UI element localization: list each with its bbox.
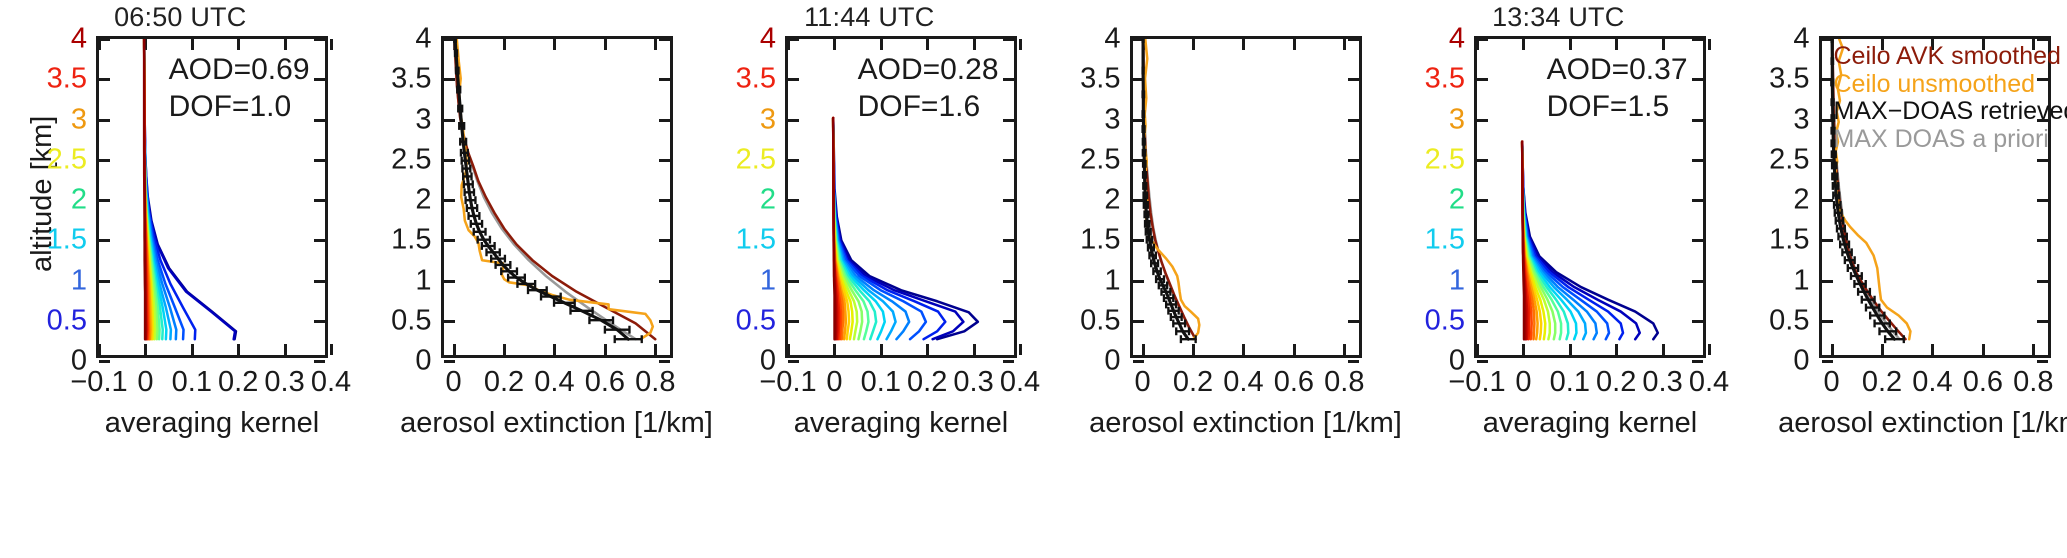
panel-title: 11:44 UTC bbox=[697, 2, 1042, 32]
x-tick-label: 0.4 bbox=[534, 367, 574, 397]
y-tick-label: 0.5 bbox=[1769, 306, 1809, 335]
plot-area: 00.511.522.533.5400.20.40.60.8aerosol ex… bbox=[1130, 36, 1362, 358]
x-axis-title: averaging kernel bbox=[105, 407, 319, 439]
y-tick-label: 1.5 bbox=[1080, 226, 1120, 255]
x-tick-label: 0 bbox=[1824, 367, 1840, 397]
x-tick-label: 0.8 bbox=[1324, 367, 1364, 397]
x-tick-label: 0 bbox=[1515, 367, 1531, 397]
legend: Ceilo AVK smoothedCeilo unsmoothedMAX−DO… bbox=[1834, 43, 2067, 153]
x-tick bbox=[1708, 39, 1711, 50]
x-tick-label: −0.1 bbox=[1448, 367, 1505, 397]
y-tick-label: 3.5 bbox=[1769, 65, 1809, 94]
y-tick bbox=[1477, 360, 1488, 363]
y-tick-label: 4 bbox=[71, 25, 87, 54]
x-tick-label: 0.2 bbox=[1862, 367, 1902, 397]
y-tick bbox=[2037, 360, 2048, 363]
plot-area: 00.511.522.533.5400.20.40.60.8aerosol ex… bbox=[441, 36, 673, 358]
y-tick-label: 1 bbox=[760, 266, 776, 295]
panel-ext-1334: 00.511.522.533.5400.20.40.60.8aerosol ex… bbox=[1731, 0, 2067, 558]
y-tick-label: 1 bbox=[1793, 266, 1809, 295]
y-tick-label: 4 bbox=[415, 25, 431, 54]
y-tick-label: 4 bbox=[1104, 25, 1120, 54]
y-tick-label: 3.5 bbox=[1080, 65, 1120, 94]
y-tick-label: 1 bbox=[71, 266, 87, 295]
x-tick-label: 0.8 bbox=[2013, 367, 2053, 397]
x-tick-label: 0.6 bbox=[585, 367, 625, 397]
x-tick-label: 0.2 bbox=[218, 367, 258, 397]
multi-panel-profile-figure: altitude [km] 06:50 UTC00.511.522.533.54… bbox=[0, 0, 2067, 558]
curve-canvas bbox=[1133, 39, 1359, 355]
x-tick-label: 0.2 bbox=[1596, 367, 1636, 397]
plot-area: 00.511.522.533.5400.20.40.60.8aerosol ex… bbox=[1819, 36, 2051, 358]
y-tick bbox=[659, 360, 670, 363]
y-tick-label: 3.5 bbox=[736, 65, 776, 94]
y-tick-label: 3.5 bbox=[1425, 65, 1465, 94]
x-tick-label: −0.1 bbox=[759, 367, 816, 397]
y-tick-label: 1.5 bbox=[736, 226, 776, 255]
y-tick-label: 0 bbox=[1793, 347, 1809, 376]
x-tick-label: 0 bbox=[137, 367, 153, 397]
curve-canvas bbox=[1477, 39, 1703, 355]
panel-title: 06:50 UTC bbox=[8, 2, 353, 32]
curve-canvas bbox=[444, 39, 670, 355]
y-tick-label: 3 bbox=[1449, 105, 1465, 134]
panel-ext-0650: 00.511.522.533.5400.20.40.60.8aerosol ex… bbox=[353, 0, 698, 558]
y-tick-label: 2 bbox=[1449, 186, 1465, 215]
y-tick bbox=[1003, 360, 1014, 363]
y-tick-label: 2 bbox=[71, 186, 87, 215]
x-axis-title: averaging kernel bbox=[1483, 407, 1697, 439]
y-tick-label: 4 bbox=[1449, 25, 1465, 54]
y-tick-label: 3 bbox=[1104, 105, 1120, 134]
y-tick-label: 2.5 bbox=[47, 145, 87, 174]
panel-ak-0650: 06:50 UTC00.511.522.533.54−0.100.10.20.3… bbox=[8, 0, 353, 558]
y-tick bbox=[1822, 360, 1833, 363]
y-tick-label: 2.5 bbox=[1769, 145, 1809, 174]
y-tick-label: 2 bbox=[415, 186, 431, 215]
panel-ak-1144: 11:44 UTC00.511.522.533.54−0.100.10.20.3… bbox=[697, 0, 1042, 558]
x-tick-label: 0 bbox=[446, 367, 462, 397]
plot-area: 00.511.522.533.54−0.100.10.20.30.4averag… bbox=[785, 36, 1017, 358]
y-tick-label: 1.5 bbox=[1425, 226, 1465, 255]
y-tick-label: 1.5 bbox=[391, 226, 431, 255]
y-tick-label: 1 bbox=[1104, 266, 1120, 295]
y-tick bbox=[1348, 360, 1359, 363]
x-tick-label: 0.2 bbox=[907, 367, 947, 397]
x-tick bbox=[330, 344, 333, 355]
x-tick-label: 0.8 bbox=[635, 367, 675, 397]
y-tick-label: 2.5 bbox=[1080, 145, 1120, 174]
curve-canvas bbox=[99, 39, 325, 355]
y-tick-label: 2.5 bbox=[1425, 145, 1465, 174]
x-tick-label: 0.1 bbox=[861, 367, 901, 397]
y-tick-label: 1.5 bbox=[47, 226, 87, 255]
y-tick-label: 4 bbox=[1793, 25, 1809, 54]
y-tick-label: 3 bbox=[71, 105, 87, 134]
y-tick-label: 3 bbox=[1793, 105, 1809, 134]
y-tick-label: 1 bbox=[1449, 266, 1465, 295]
y-tick-label: 2.5 bbox=[391, 145, 431, 174]
y-tick-label: 0.5 bbox=[1425, 306, 1465, 335]
y-tick-label: 0.5 bbox=[736, 306, 776, 335]
y-tick-label: 0 bbox=[415, 347, 431, 376]
x-tick-label: 0.4 bbox=[311, 367, 351, 397]
x-tick bbox=[1019, 39, 1022, 50]
series-line bbox=[456, 39, 652, 339]
x-tick bbox=[330, 39, 333, 50]
x-axis-title: aerosol extinction [1/km] bbox=[400, 407, 713, 439]
y-tick-label: 0.5 bbox=[391, 306, 431, 335]
x-tick-label: 0.4 bbox=[1689, 367, 1729, 397]
legend-item: Ceilo AVK smoothed bbox=[1834, 43, 2067, 71]
x-tick-label: 0 bbox=[826, 367, 842, 397]
y-tick bbox=[1133, 360, 1144, 363]
y-tick-label: 1.5 bbox=[1769, 226, 1809, 255]
y-tick-label: 0.5 bbox=[1080, 306, 1120, 335]
x-tick-label: 0 bbox=[1135, 367, 1151, 397]
y-tick bbox=[99, 360, 110, 363]
x-tick-label: 0.1 bbox=[1550, 367, 1590, 397]
x-tick bbox=[1708, 344, 1711, 355]
y-tick-label: 2.5 bbox=[736, 145, 776, 174]
legend-item: MAX DOAS a priori bbox=[1834, 126, 2067, 154]
x-tick-label: −0.1 bbox=[70, 367, 127, 397]
x-tick-label: 0.2 bbox=[484, 367, 524, 397]
x-tick-label: 0.4 bbox=[1000, 367, 1040, 397]
y-tick-label: 3 bbox=[415, 105, 431, 134]
legend-item: Ceilo unsmoothed bbox=[1834, 71, 2067, 99]
y-tick bbox=[314, 360, 325, 363]
y-tick-label: 2 bbox=[1104, 186, 1120, 215]
x-tick-label: 0.4 bbox=[1223, 367, 1263, 397]
panel-ak-1334: 13:34 UTC00.511.522.533.54−0.100.10.20.3… bbox=[1386, 0, 1731, 558]
y-tick-label: 4 bbox=[760, 25, 776, 54]
y-tick bbox=[788, 360, 799, 363]
x-tick-label: 0.1 bbox=[172, 367, 212, 397]
x-tick-label: 0.6 bbox=[1274, 367, 1314, 397]
y-tick-label: 0.5 bbox=[47, 306, 87, 335]
x-axis-title: averaging kernel bbox=[794, 407, 1008, 439]
series-line bbox=[1144, 39, 1199, 339]
series-line bbox=[144, 39, 145, 339]
plot-area: 00.511.522.533.54−0.100.10.20.30.4averag… bbox=[1474, 36, 1706, 358]
series-line bbox=[833, 118, 834, 339]
x-tick-label: 0.4 bbox=[1912, 367, 1952, 397]
panel-title: 13:34 UTC bbox=[1386, 2, 1731, 32]
curve-canvas bbox=[788, 39, 1014, 355]
y-tick-label: 3.5 bbox=[391, 65, 431, 94]
series-line bbox=[454, 39, 654, 339]
y-tick-label: 2 bbox=[1793, 186, 1809, 215]
y-tick bbox=[1692, 360, 1703, 363]
x-axis-title: aerosol extinction [1/km] bbox=[1778, 407, 2067, 439]
x-axis-title: aerosol extinction [1/km] bbox=[1089, 407, 1402, 439]
y-tick-label: 2 bbox=[760, 186, 776, 215]
x-tick-label: 0.3 bbox=[264, 367, 304, 397]
x-tick-label: 0.3 bbox=[953, 367, 993, 397]
plot-area: 00.511.522.533.54−0.100.10.20.30.4averag… bbox=[96, 36, 328, 358]
legend-item: MAX−DOAS retrieved bbox=[1834, 98, 2067, 126]
y-tick-label: 0 bbox=[1104, 347, 1120, 376]
x-tick bbox=[1019, 344, 1022, 355]
y-tick-label: 3.5 bbox=[47, 65, 87, 94]
y-tick-label: 3 bbox=[760, 105, 776, 134]
y-tick-label: 1 bbox=[415, 266, 431, 295]
x-tick-label: 0.2 bbox=[1173, 367, 1213, 397]
panel-ext-1144: 00.511.522.533.5400.20.40.60.8aerosol ex… bbox=[1042, 0, 1387, 558]
y-tick bbox=[444, 360, 455, 363]
x-tick-label: 0.3 bbox=[1642, 367, 1682, 397]
x-tick-label: 0.6 bbox=[1963, 367, 2003, 397]
